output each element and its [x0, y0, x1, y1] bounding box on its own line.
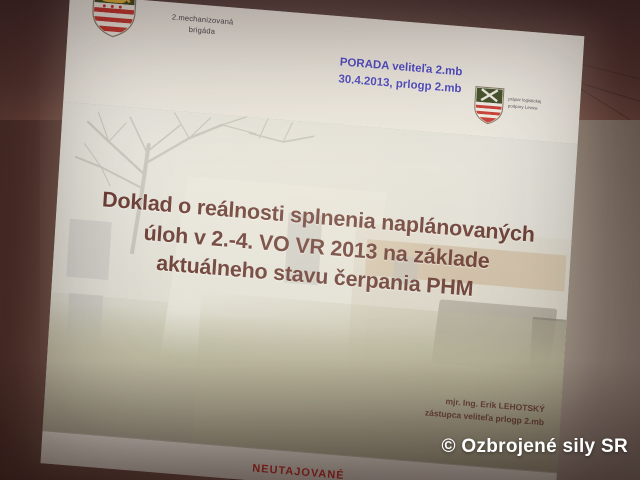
shield-logistics-crest-icon [473, 85, 505, 125]
shield-lion-crest-icon [89, 0, 138, 39]
slide-canvas: 2.mechanizovaná brigáda PORADA veliteľa … [40, 0, 584, 480]
projected-slide: 2.mechanizovaná brigáda PORADA veliteľa … [40, 0, 584, 480]
unit-name-right: prápor logistickej podpory Levice [508, 96, 567, 114]
copyright-watermark: © Ozbrojené sily SR [441, 436, 628, 458]
unit-name-left: 2.mechanizovaná brigáda [142, 10, 263, 42]
room-scene: 2.mechanizovaná brigáda PORADA veliteľa … [0, 0, 640, 480]
